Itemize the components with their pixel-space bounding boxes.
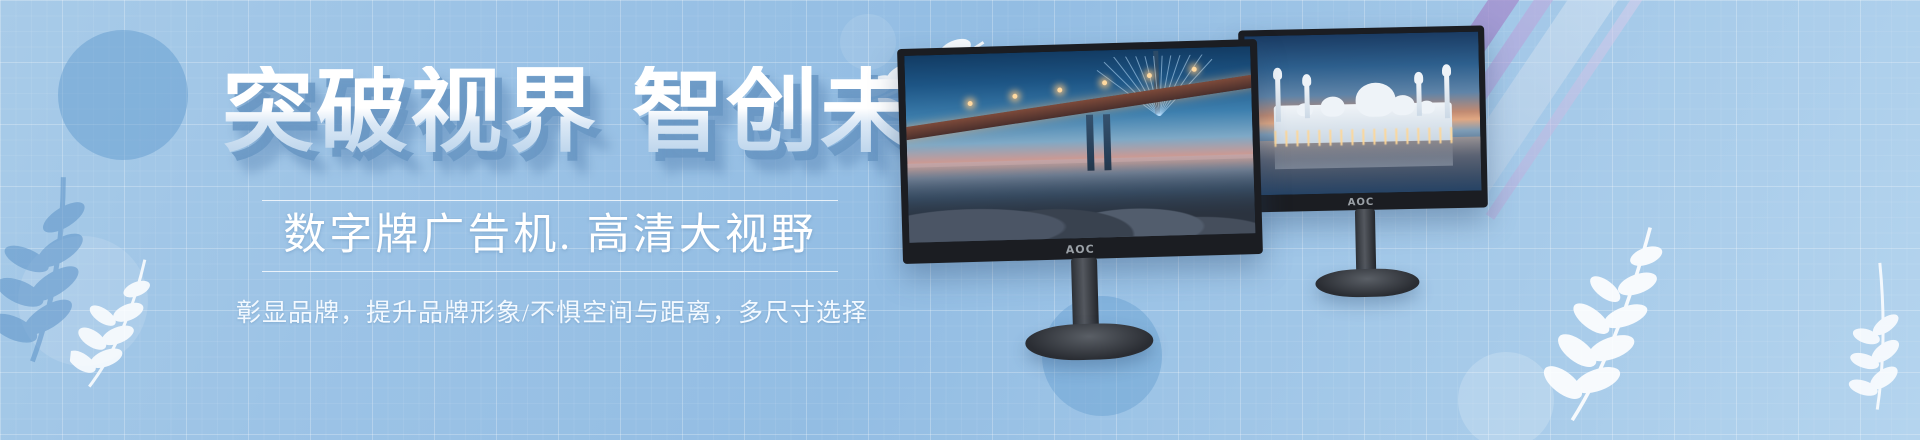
product-images: AOC (870, 0, 1920, 440)
monitor-brand-label: AOC (1348, 197, 1375, 209)
banner-description: 彰显品牌，提升品牌形象/不惧空间与距离，多尺寸选择 (232, 298, 872, 329)
monitor-brand-label: AOC (1066, 243, 1095, 257)
divider-bottom (262, 271, 838, 272)
monitor-screen (904, 46, 1255, 243)
banner-subtitle-block: 数字牌广告机. 高清大视野 (262, 200, 838, 272)
monitor-stand-base (1025, 322, 1154, 362)
monitor-screen (1244, 32, 1481, 196)
monitor-secondary: AOC (1238, 25, 1488, 212)
monitor-bezel: AOC (1238, 25, 1488, 212)
monitor-stand-base (1315, 268, 1420, 298)
monitor-bezel: AOC (897, 39, 1263, 264)
banner-copy: 突破视界 智创未来 数字牌广告机. 高清大视野 彰显品牌，提升品牌形象/不惧空间… (0, 0, 900, 440)
monitor-stand-neck (1355, 209, 1376, 273)
divider-top (262, 200, 838, 201)
monitor-primary: AOC (897, 39, 1263, 264)
promo-banner: 突破视界 智创未来 数字牌广告机. 高清大视野 彰显品牌，提升品牌形象/不惧空间… (0, 0, 1920, 440)
monitor-stand-neck (1071, 258, 1099, 329)
banner-subtitle: 数字牌广告机. 高清大视野 (262, 213, 838, 259)
